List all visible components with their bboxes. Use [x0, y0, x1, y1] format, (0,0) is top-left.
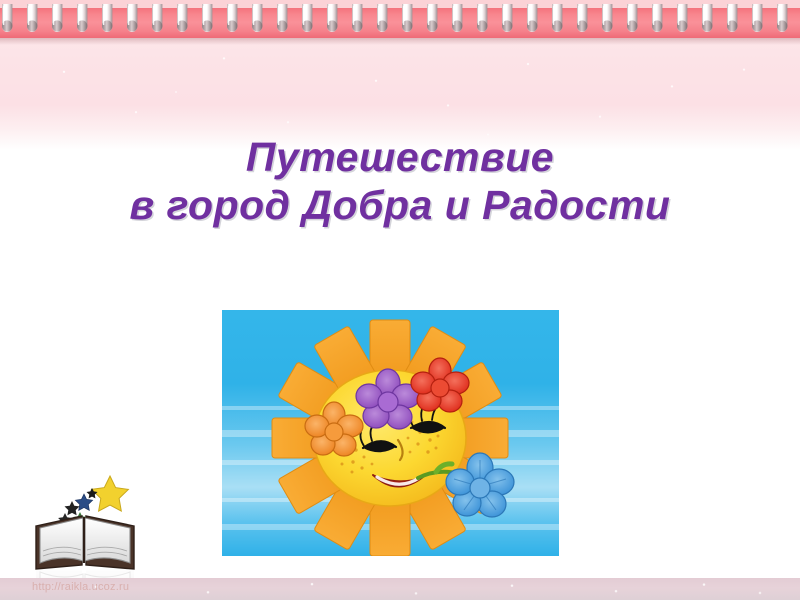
- presentation-slide: Путешествие в город Добра и Радости: [0, 0, 800, 600]
- spiral-binding-rings: [0, 0, 800, 46]
- sun-illustration: [222, 310, 559, 556]
- slide-title: Путешествие в город Добра и Радости: [0, 133, 800, 229]
- open-book-logo: [22, 468, 152, 583]
- watermark-url: http://raikla.ucoz.ru: [32, 581, 129, 593]
